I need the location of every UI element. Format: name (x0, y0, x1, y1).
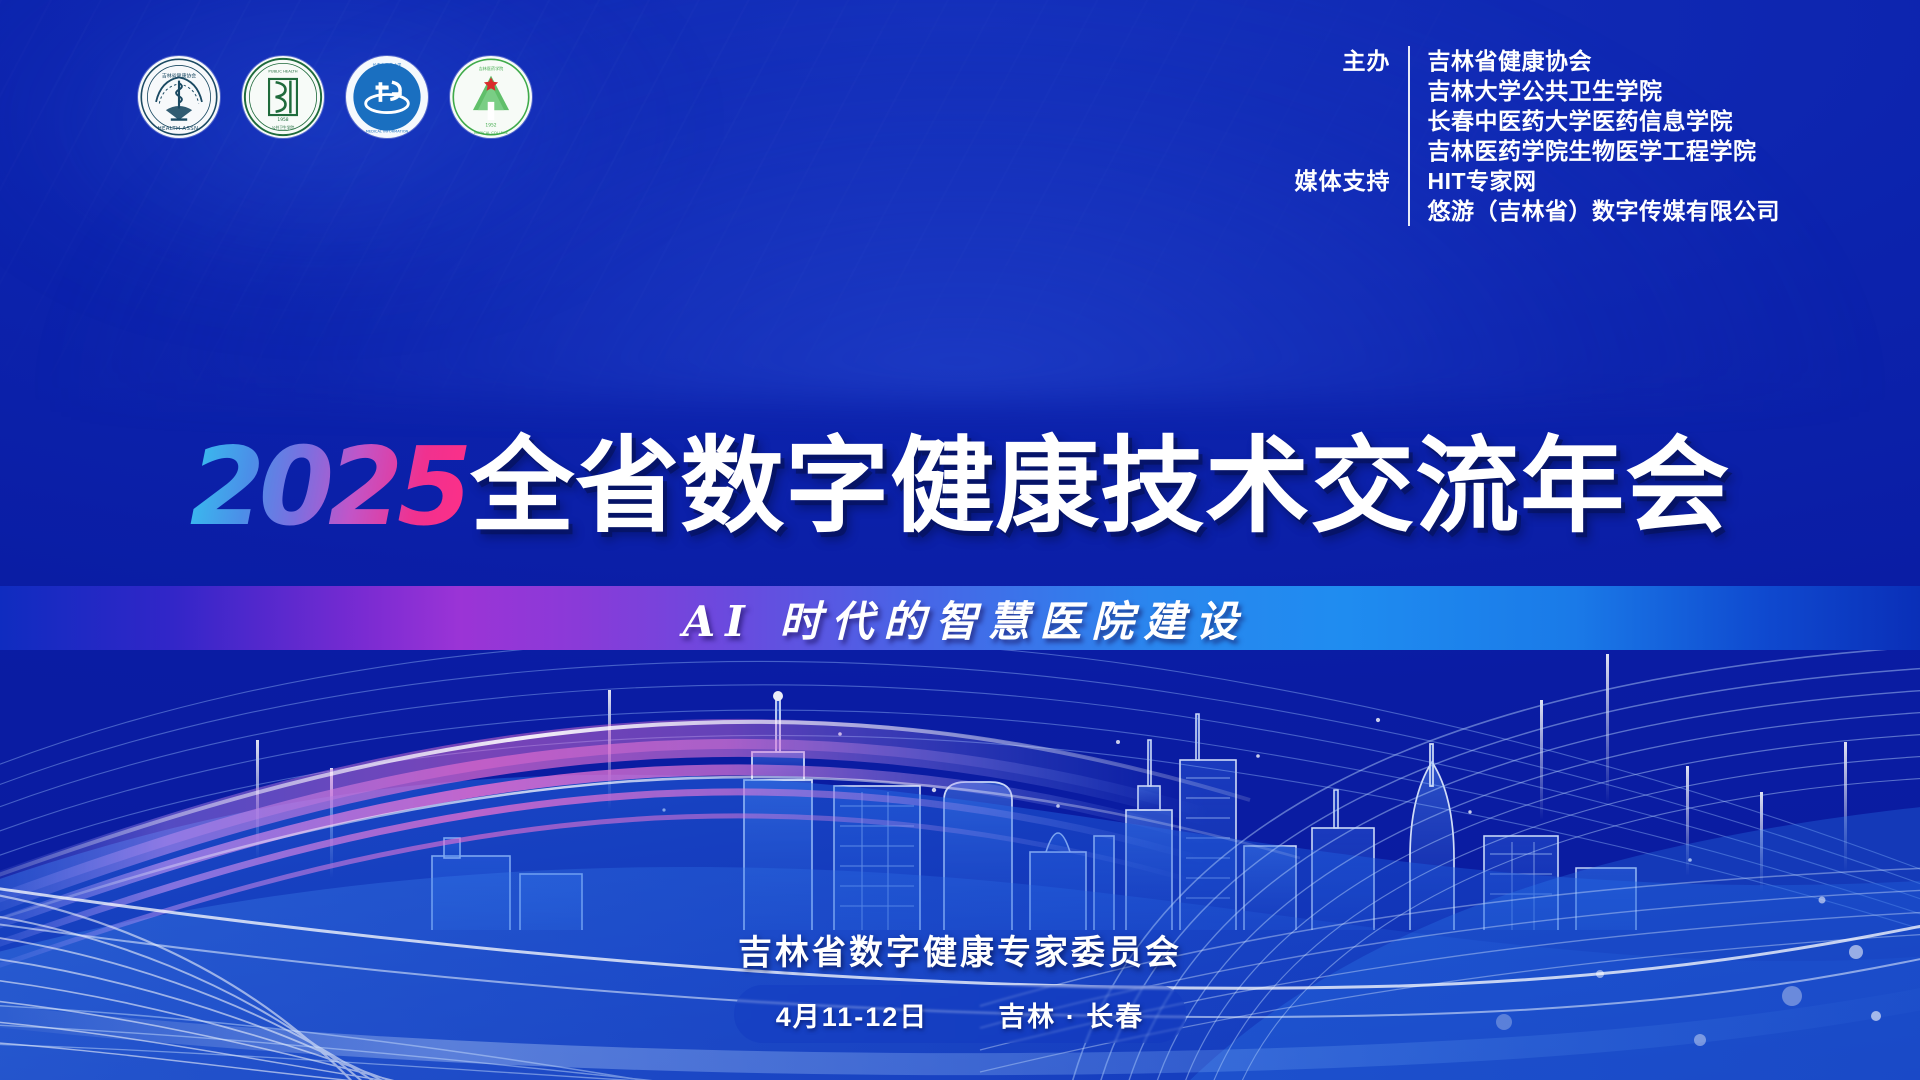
conference-poster: 吉林省健康协会 HEALTH ASSN. 1958 PUBLIC HEALTH … (0, 0, 1920, 1080)
organizer-name: 吉林大学公共卫生学院 (1428, 76, 1757, 106)
organizer-name: 吉林省健康协会 (1428, 46, 1757, 76)
event-date: 4月11-12日 (776, 995, 929, 1034)
svg-text:MEDICAL COLLEGE: MEDICAL COLLEGE (474, 131, 509, 135)
svg-text:1958: 1958 (277, 117, 288, 123)
jilin-medical-college-logo: 吉林医药学院 1952 MEDICAL COLLEGE (450, 56, 532, 138)
organizer-names-host: 吉林省健康协会 吉林大学公共卫生学院 长春中医药大学医药信息学院 吉林医药学院生… (1408, 46, 1757, 166)
svg-text:吉林医药学院: 吉林医药学院 (479, 65, 504, 71)
svg-text:公共卫生学院: 公共卫生学院 (272, 125, 295, 130)
committee-name: 吉林省数字健康专家委员会 (0, 925, 1920, 974)
organizer-name: 长春中医药大学医药信息学院 (1428, 106, 1757, 136)
organizer-credits: 主办 吉林省健康协会 吉林大学公共卫生学院 长春中医药大学医药信息学院 吉林医药… (1279, 46, 1781, 226)
page-title: 2025 全省数字健康技术交流年会 (0, 432, 1920, 540)
organizer-row-media: 媒体支持 HIT专家网 悠游（吉林省）数字传媒有限公司 (1279, 166, 1781, 226)
subtitle-text: AI 时代的智慧医院建设 (0, 586, 1920, 650)
svg-text:1952: 1952 (485, 123, 496, 129)
subtitle-gradient-bar: AI 时代的智慧医院建设 (0, 586, 1920, 650)
jilin-health-association-logo: 吉林省健康协会 HEALTH ASSN. (138, 56, 220, 138)
organizer-label-media: 媒体支持 (1279, 166, 1408, 196)
title-main-text: 全省数字健康技术交流年会 (470, 434, 1730, 538)
svg-text:长春中医药大学: 长春中医药大学 (373, 62, 402, 68)
svg-text:HEALTH ASSN.: HEALTH ASSN. (158, 126, 201, 132)
organizer-name: 悠游（吉林省）数字传媒有限公司 (1428, 196, 1781, 226)
organizer-logo-strip: 吉林省健康协会 HEALTH ASSN. 1958 PUBLIC HEALTH … (138, 56, 532, 138)
date-location-pill: 4月11-12日 吉林 · 长春 (734, 985, 1186, 1043)
school-of-medical-information-logo: 长春中医药大学 MEDICAL INFORMATION (346, 56, 428, 138)
svg-text:MEDICAL INFORMATION: MEDICAL INFORMATION (366, 129, 409, 133)
svg-text:PUBLIC HEALTH: PUBLIC HEALTH (268, 69, 297, 73)
school-of-public-health-jilin-university-logo: 1958 PUBLIC HEALTH 公共卫生学院 (242, 56, 324, 138)
event-location: 吉林 · 长春 (998, 995, 1144, 1034)
organizer-name: 吉林医药学院生物医学工程学院 (1428, 136, 1757, 166)
svg-text:吉林省健康协会: 吉林省健康协会 (162, 72, 196, 79)
organizer-row-host: 主办 吉林省健康协会 吉林大学公共卫生学院 长春中医药大学医药信息学院 吉林医药… (1279, 46, 1781, 166)
organizer-label-host: 主办 (1279, 46, 1408, 76)
title-year: 2025 (190, 434, 471, 542)
organizer-name: HIT专家网 (1428, 166, 1781, 196)
organizer-names-media: HIT专家网 悠游（吉林省）数字传媒有限公司 (1408, 166, 1781, 226)
